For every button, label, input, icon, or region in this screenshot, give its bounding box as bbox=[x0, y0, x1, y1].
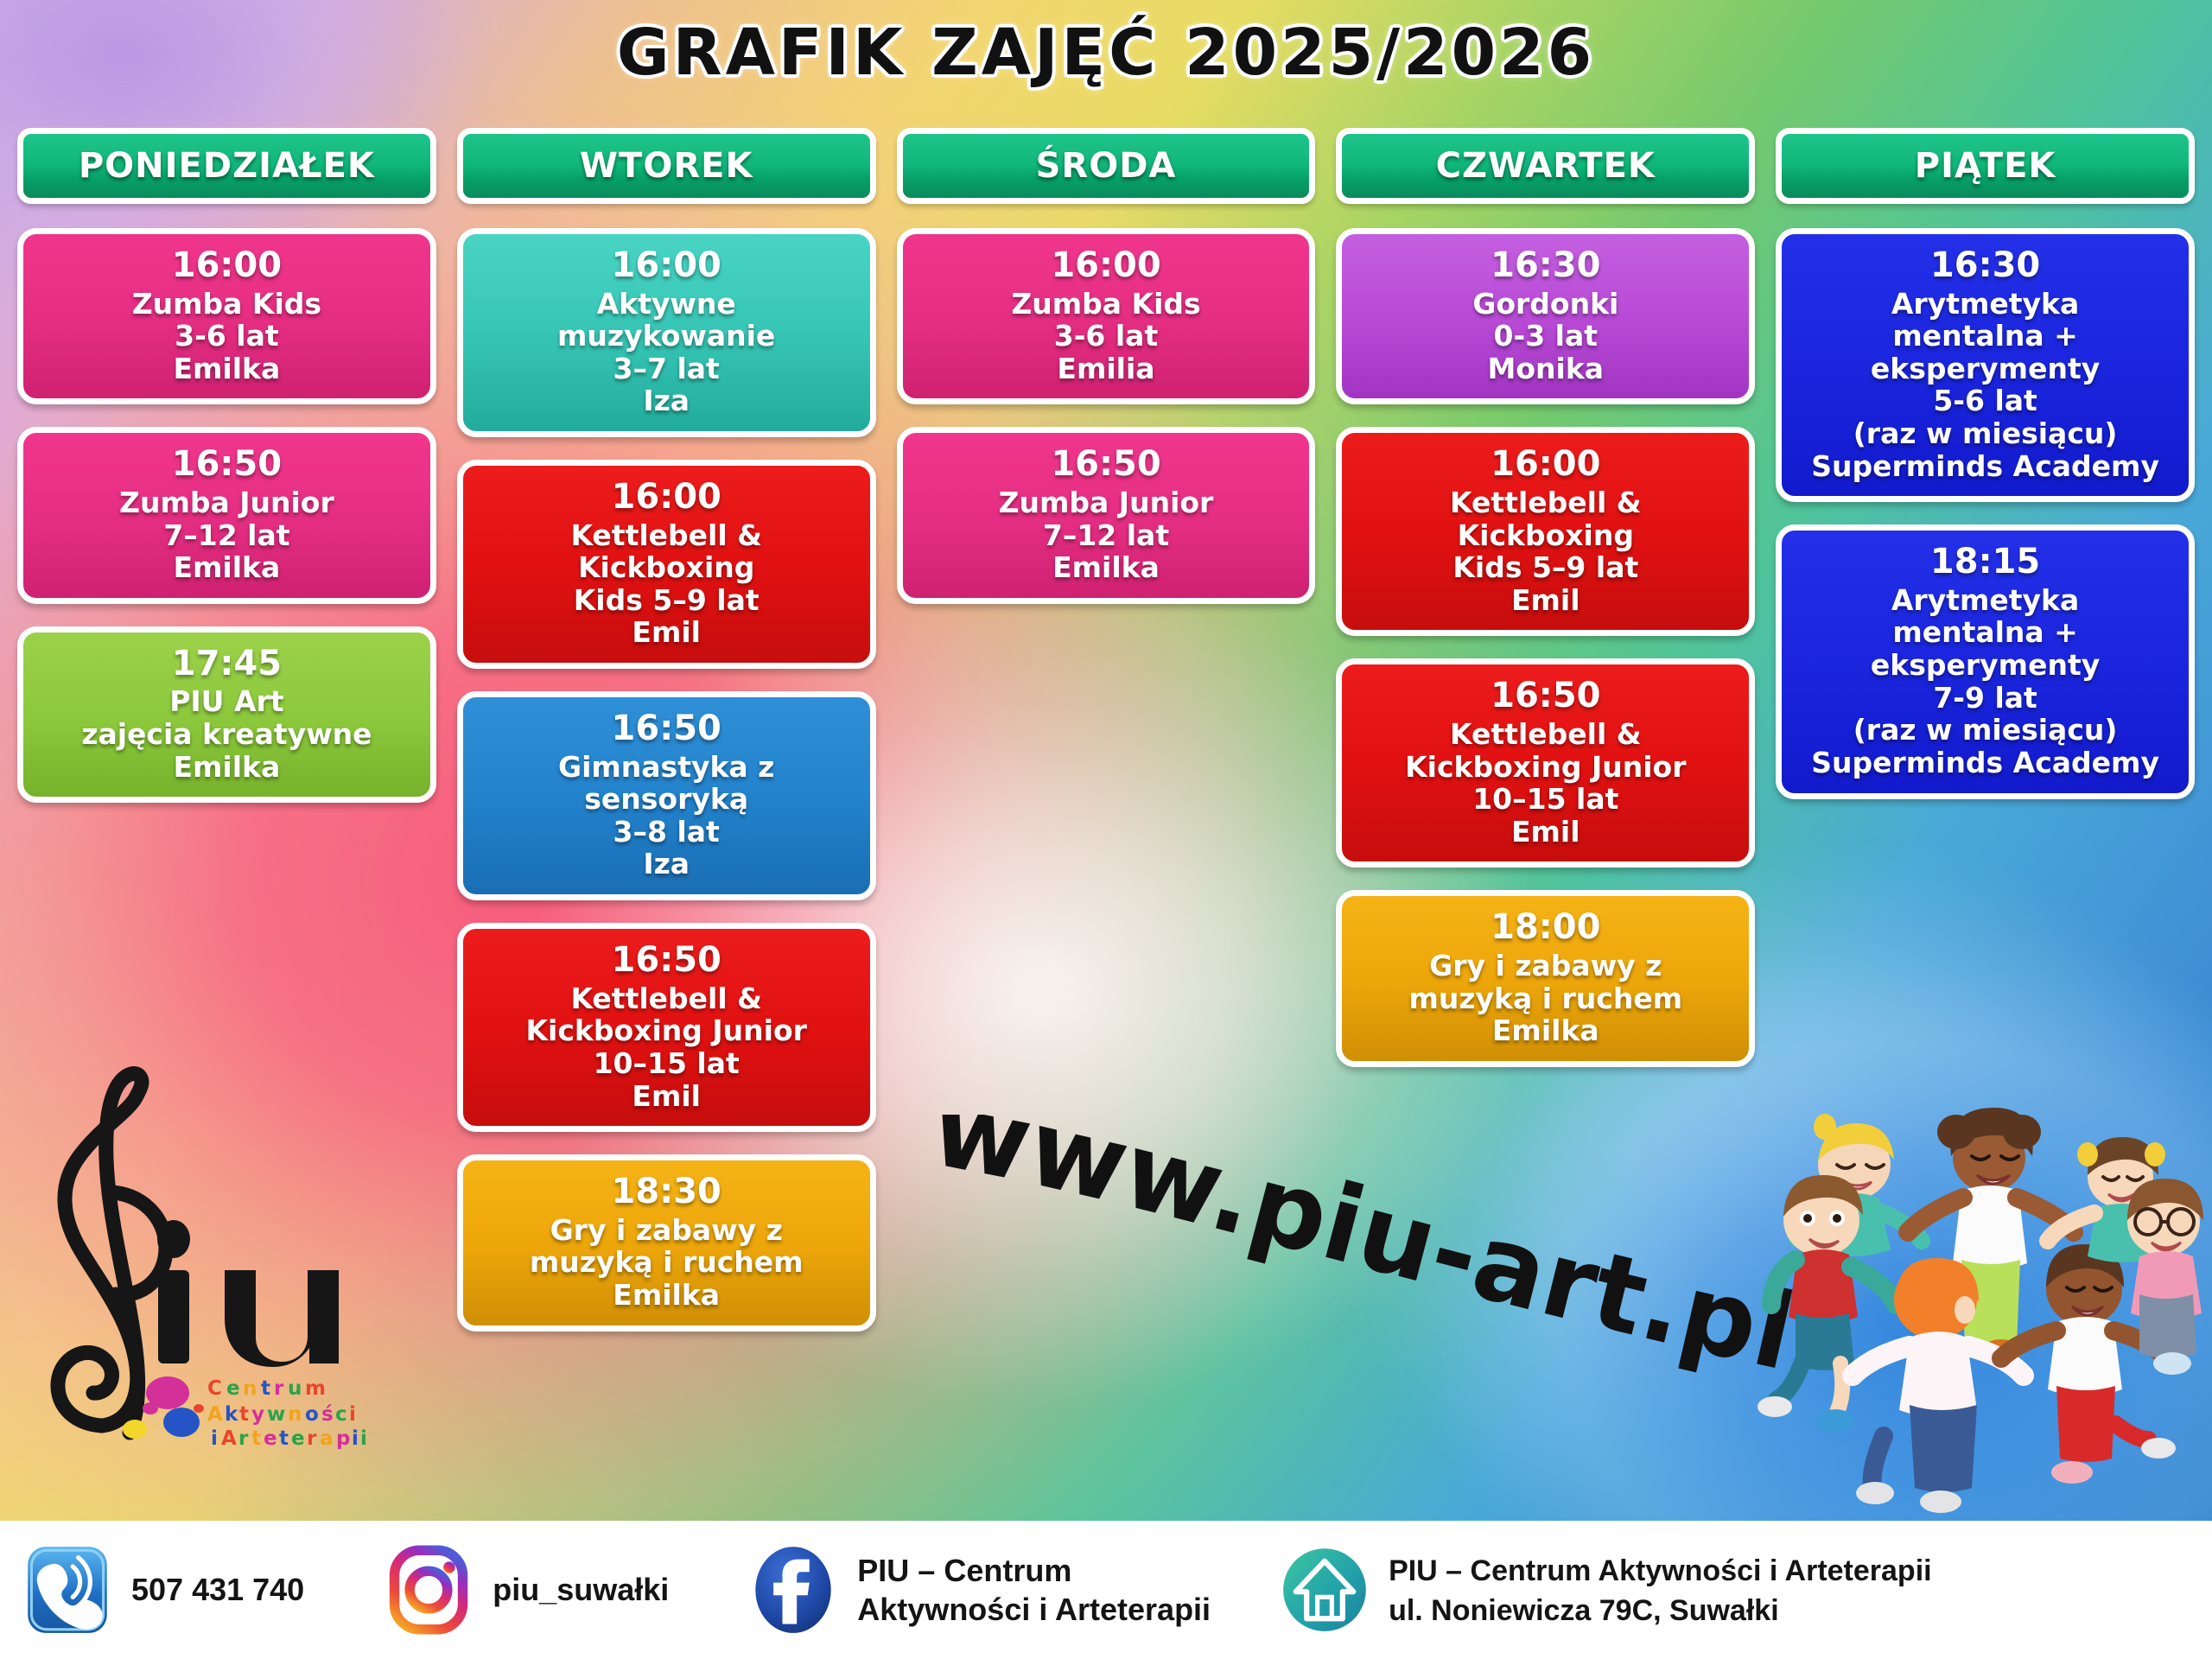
facebook-page-name: PIU – Centrum Aktywności i Arteterapii bbox=[857, 1551, 1211, 1630]
class-detail-line: eksperymenty bbox=[1790, 649, 2180, 682]
svg-text:e: e bbox=[226, 1377, 240, 1400]
svg-text:p: p bbox=[336, 1427, 350, 1450]
svg-text:y: y bbox=[251, 1403, 264, 1426]
class-card[interactable]: 16:50Gimnastyka zsensoryką3–8 latIza bbox=[457, 691, 876, 900]
class-detail-line: Zumba Junior bbox=[32, 486, 422, 519]
class-detail-line: sensoryką bbox=[472, 783, 861, 816]
class-card[interactable]: 16:00Aktywnemuzykowanie3–7 latIza bbox=[457, 228, 876, 437]
piu-logo: C e n t r u m A k t y w n o ś c i i A r bbox=[19, 1063, 382, 1478]
class-detail-line: Kettlebell & bbox=[1351, 486, 1740, 519]
class-detail-line: zajęcia kreatywne bbox=[32, 718, 422, 751]
class-detail-line: (raz w miesiącu) bbox=[1790, 714, 2180, 747]
class-time: 16:00 bbox=[912, 246, 1301, 286]
day-header: CZWARTEK bbox=[1336, 128, 1755, 204]
svg-text:t: t bbox=[261, 1377, 270, 1400]
svg-text:n: n bbox=[243, 1377, 257, 1400]
day-column-środa: ŚRODA16:00Zumba Kids3-6 latEmilia16:50Zu… bbox=[897, 128, 1316, 626]
class-time: 16:00 bbox=[472, 478, 861, 518]
class-detail-line: 7-9 lat bbox=[1790, 682, 2180, 715]
class-detail-line: Emil bbox=[472, 616, 861, 649]
class-time: 16:50 bbox=[912, 445, 1301, 485]
footer-phone[interactable]: 507 431 740 bbox=[22, 1545, 304, 1635]
page-title: GRAFIK ZAJĘĆ 2025/2026 bbox=[0, 16, 2212, 90]
class-card[interactable]: 16:50Kettlebell &Kickboxing Junior10–15 … bbox=[457, 923, 876, 1132]
class-time: 16:50 bbox=[472, 709, 861, 749]
class-detail-line: 7–12 lat bbox=[912, 519, 1301, 552]
home-icon bbox=[1280, 1545, 1370, 1635]
class-detail-line: 3-6 lat bbox=[32, 320, 422, 353]
day-header: ŚRODA bbox=[897, 128, 1316, 204]
class-detail-line: Kettlebell & bbox=[472, 519, 861, 552]
class-detail-line: 10–15 lat bbox=[1351, 783, 1740, 816]
class-detail-line: Arytmetyka bbox=[1790, 288, 2180, 321]
address-line-1: PIU – Centrum Aktywności i Arteterapii bbox=[1389, 1554, 1932, 1587]
class-card[interactable]: 17:45PIU Artzajęcia kreatywneEmilka bbox=[17, 626, 436, 803]
svg-text:t: t bbox=[279, 1427, 289, 1450]
class-detail-line: Kickboxing Junior bbox=[1351, 751, 1740, 784]
svg-text:k: k bbox=[225, 1403, 238, 1426]
class-detail-line: Superminds Academy bbox=[1790, 747, 2180, 779]
class-detail-line: Zumba Kids bbox=[32, 288, 422, 321]
svg-text:i: i bbox=[349, 1403, 356, 1426]
class-detail-line: mentalna + bbox=[1790, 320, 2180, 353]
phone-icon bbox=[22, 1545, 112, 1635]
class-card[interactable]: 16:00Kettlebell &KickboxingKids 5–9 latE… bbox=[457, 460, 876, 669]
svg-text:i: i bbox=[211, 1427, 218, 1450]
address-line-2: ul. Noniewicza 79C, Suwałki bbox=[1389, 1594, 1779, 1627]
instagram-handle: piu_suwałki bbox=[493, 1570, 669, 1609]
class-detail-line: Kickboxing bbox=[1351, 519, 1740, 552]
class-detail-line: PIU Art bbox=[32, 685, 422, 718]
class-detail-line: Kids 5–9 lat bbox=[1351, 551, 1740, 584]
facebook-line-2: Aktywności i Arteterapii bbox=[857, 1592, 1211, 1627]
class-detail-line: Emilka bbox=[32, 353, 422, 385]
svg-text:r: r bbox=[238, 1427, 249, 1450]
schedule-poster: GRAFIK ZAJĘĆ 2025/2026 PONIEDZIAŁEK16:00… bbox=[0, 0, 2212, 1659]
class-detail-line: 3–7 lat bbox=[472, 353, 861, 385]
class-detail-line: Kickboxing Junior bbox=[472, 1014, 861, 1047]
class-time: 16:50 bbox=[472, 941, 861, 981]
class-time: 17:45 bbox=[32, 645, 422, 684]
class-detail-line: 7–12 lat bbox=[32, 519, 422, 552]
footer-address[interactable]: PIU – Centrum Aktywności i Arteterapii u… bbox=[1280, 1545, 1932, 1635]
instagram-icon bbox=[384, 1545, 474, 1635]
address-text: PIU – Centrum Aktywności i Arteterapii u… bbox=[1389, 1550, 1932, 1630]
svg-text:w: w bbox=[267, 1403, 285, 1426]
svg-text:e: e bbox=[291, 1427, 305, 1450]
class-detail-line: muzykowanie bbox=[472, 320, 861, 353]
class-time: 16:30 bbox=[1351, 246, 1740, 286]
day-header-label: CZWARTEK bbox=[1436, 146, 1656, 186]
svg-text:t: t bbox=[239, 1403, 249, 1426]
phone-number: 507 431 740 bbox=[131, 1570, 304, 1609]
class-detail-line: Emilka bbox=[1351, 1014, 1740, 1047]
class-time: 18:15 bbox=[1790, 543, 2180, 582]
class-detail-line: Arytmetyka bbox=[1790, 584, 2180, 617]
class-detail-line: Emilka bbox=[912, 551, 1301, 584]
footer-instagram[interactable]: piu_suwałki bbox=[384, 1545, 669, 1635]
facebook-line-1: PIU – Centrum bbox=[857, 1553, 1071, 1588]
day-column-czwartek: CZWARTEK16:30Gordonki0-3 latMonika16:00K… bbox=[1336, 128, 1755, 1090]
svg-text:a: a bbox=[320, 1427, 334, 1450]
class-card[interactable]: 18:00Gry i zabawy zmuzyką i ruchemEmilka bbox=[1336, 890, 1755, 1066]
class-card[interactable]: 16:50Zumba Junior7–12 latEmilka bbox=[17, 427, 436, 603]
footer-facebook[interactable]: PIU – Centrum Aktywności i Arteterapii bbox=[748, 1545, 1211, 1635]
class-detail-line: muzyką i ruchem bbox=[1351, 982, 1740, 1015]
svg-text:e: e bbox=[264, 1427, 277, 1450]
class-card[interactable]: 16:00Kettlebell &KickboxingKids 5–9 latE… bbox=[1336, 427, 1755, 636]
day-header: PONIEDZIAŁEK bbox=[17, 128, 436, 204]
class-detail-line: Superminds Academy bbox=[1790, 450, 2180, 483]
svg-text:n: n bbox=[288, 1403, 302, 1426]
day-header-label: PONIEDZIAŁEK bbox=[79, 146, 375, 186]
svg-text:i: i bbox=[352, 1427, 359, 1450]
class-detail-line: Emil bbox=[1351, 584, 1740, 617]
svg-text:o: o bbox=[305, 1403, 319, 1426]
class-card[interactable]: 16:00Zumba Kids3-6 latEmilka bbox=[17, 228, 436, 404]
class-detail-line: muzyką i ruchem bbox=[472, 1246, 861, 1279]
day-header-label: WTOREK bbox=[580, 146, 753, 186]
day-header: WTOREK bbox=[457, 128, 876, 204]
class-detail-line: Emilka bbox=[32, 751, 422, 784]
class-detail-line: Iza bbox=[472, 385, 861, 417]
class-detail-line: Gimnastyka z bbox=[472, 751, 861, 784]
class-detail-line: eksperymenty bbox=[1790, 353, 2180, 385]
svg-text:r: r bbox=[274, 1377, 284, 1400]
svg-text:r: r bbox=[307, 1427, 317, 1450]
class-detail-line: Gry i zabawy z bbox=[1351, 950, 1740, 982]
class-detail-line: Emilia bbox=[912, 353, 1301, 385]
class-detail-line: Kickboxing bbox=[472, 551, 861, 584]
class-detail-line: Zumba Junior bbox=[912, 486, 1301, 519]
day-column-poniedziałek: PONIEDZIAŁEK16:00Zumba Kids3-6 latEmilka… bbox=[17, 128, 436, 825]
svg-text:i: i bbox=[360, 1427, 367, 1450]
day-header-label: PIĄTEK bbox=[1915, 146, 2056, 186]
class-detail-line: Emil bbox=[1351, 816, 1740, 849]
day-column-piątek: PIĄTEK16:30Arytmetykamentalna +eksperyme… bbox=[1776, 128, 2195, 822]
svg-text:ś: ś bbox=[321, 1403, 334, 1426]
svg-text:m: m bbox=[305, 1377, 326, 1400]
class-detail-line: mentalna + bbox=[1790, 616, 2180, 649]
class-detail-line: (raz w miesiącu) bbox=[1790, 417, 2180, 450]
class-card[interactable]: 16:50Zumba Junior7–12 latEmilka bbox=[897, 427, 1316, 603]
svg-text:A: A bbox=[221, 1427, 237, 1450]
class-card[interactable]: 16:30Gordonki0-3 latMonika bbox=[1336, 228, 1755, 404]
class-time: 16:50 bbox=[1351, 677, 1740, 716]
class-detail-line: Kettlebell & bbox=[472, 982, 861, 1015]
svg-text:C: C bbox=[207, 1377, 222, 1400]
svg-text:t: t bbox=[251, 1427, 261, 1450]
class-time: 16:00 bbox=[1351, 445, 1740, 485]
class-detail-line: Emil bbox=[472, 1080, 861, 1113]
day-header: PIĄTEK bbox=[1776, 128, 2195, 204]
class-detail-line: 3–8 lat bbox=[472, 816, 861, 849]
class-detail-line: Emilka bbox=[32, 551, 422, 584]
class-time: 16:00 bbox=[472, 246, 861, 286]
children-illustration bbox=[1758, 1082, 2207, 1514]
day-column-wtorek: WTOREK16:00Aktywnemuzykowanie3–7 latIza1… bbox=[457, 128, 876, 1354]
class-detail-line: Gordonki bbox=[1351, 288, 1740, 321]
class-card[interactable]: 16:00Zumba Kids3-6 latEmilia bbox=[897, 228, 1316, 404]
class-time: 18:30 bbox=[472, 1173, 861, 1212]
svg-text:c: c bbox=[335, 1403, 347, 1426]
class-detail-line: Aktywne bbox=[472, 288, 861, 321]
class-detail-line: Monika bbox=[1351, 353, 1740, 385]
class-detail-line: 3-6 lat bbox=[912, 320, 1301, 353]
class-time: 16:50 bbox=[32, 445, 422, 485]
class-card[interactable]: 16:30Arytmetykamentalna +eksperymenty5-6… bbox=[1776, 228, 2195, 502]
facebook-icon bbox=[748, 1545, 838, 1635]
class-time: 16:30 bbox=[1790, 246, 2180, 286]
class-detail-line: 0-3 lat bbox=[1351, 320, 1740, 353]
class-time: 16:00 bbox=[32, 246, 422, 286]
class-detail-line: Gry i zabawy z bbox=[472, 1214, 861, 1247]
class-detail-line: Emilka bbox=[472, 1279, 861, 1312]
class-detail-line: 5-6 lat bbox=[1790, 385, 2180, 417]
svg-text:u: u bbox=[288, 1377, 302, 1400]
footer-contact-bar: 507 431 740 piu_suwałki bbox=[0, 1521, 2212, 1659]
class-detail-line: Kettlebell & bbox=[1351, 718, 1740, 751]
class-card[interactable]: 18:15Arytmetykamentalna +eksperymenty7-9… bbox=[1776, 524, 2195, 798]
class-time: 18:00 bbox=[1351, 908, 1740, 948]
class-card[interactable]: 18:30Gry i zabawy zmuzyką i ruchemEmilka bbox=[457, 1154, 876, 1331]
day-header-label: ŚRODA bbox=[1036, 146, 1177, 186]
class-detail-line: Zumba Kids bbox=[912, 288, 1301, 321]
svg-text:A: A bbox=[207, 1403, 223, 1426]
class-detail-line: 10–15 lat bbox=[472, 1047, 861, 1080]
class-card[interactable]: 16:50Kettlebell &Kickboxing Junior10–15 … bbox=[1336, 658, 1755, 868]
class-detail-line: Iza bbox=[472, 848, 861, 880]
class-detail-line: Kids 5–9 lat bbox=[472, 584, 861, 617]
